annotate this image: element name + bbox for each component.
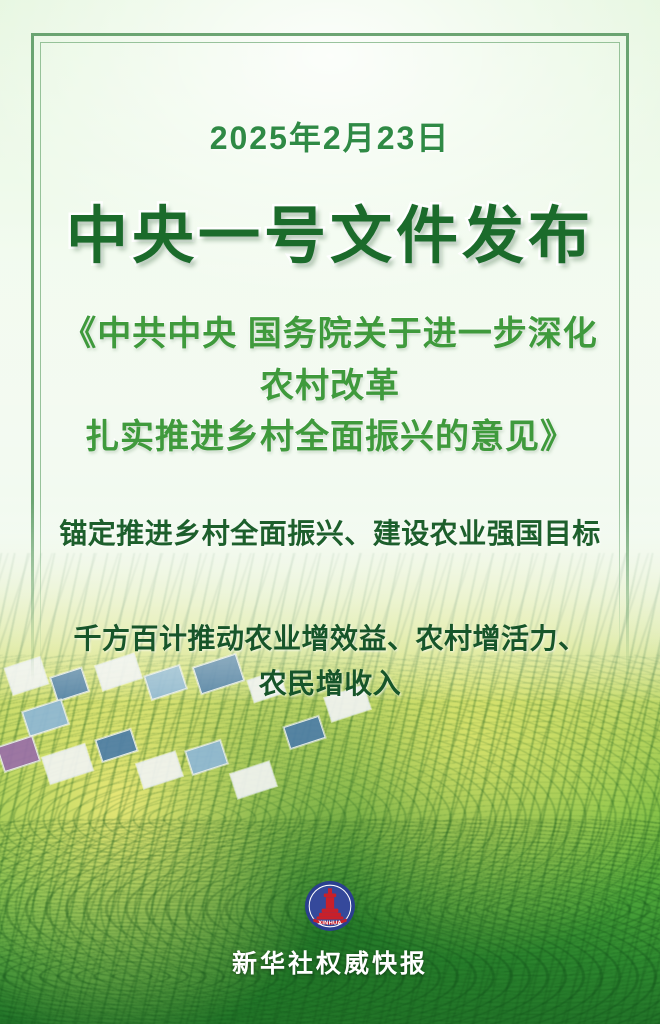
subtitle-measures: 千方百计推动农业增效益、农村增活力、 农民增收入 — [45, 616, 615, 707]
page-title: 中央一号文件发布 — [66, 185, 594, 275]
footer-caption: 新华社权威快报 — [232, 944, 428, 980]
document-title: 《中共中央 国务院关于进一步深化农村改革 扎实推进乡村全面振兴的意见》 — [50, 309, 610, 464]
subtitle-measures-line-2: 农民增收入 — [45, 661, 615, 706]
poster-content: 2025年2月23日 中央一号文件发布 《中共中央 国务院关于进一步深化农村改革… — [0, 0, 660, 1024]
poster: 2025年2月23日 中央一号文件发布 《中共中央 国务院关于进一步深化农村改革… — [0, 0, 660, 1024]
publish-date: 2025年2月23日 — [210, 113, 451, 159]
xinhua-logo-icon: XINHUA — [304, 880, 356, 932]
subtitle-measures-line-1: 千方百计推动农业增效益、农村增活力、 — [45, 616, 615, 661]
footer: XINHUA 新华社权威快报 — [0, 880, 660, 980]
document-title-line-2: 扎实推进乡村全面振兴的意见》 — [50, 412, 610, 464]
svg-text:XINHUA: XINHUA — [318, 921, 341, 927]
document-title-line-1: 《中共中央 国务院关于进一步深化农村改革 — [50, 309, 610, 412]
subtitle-goal: 锚定推进乡村全面振兴、建设农业强国目标 — [40, 512, 620, 552]
